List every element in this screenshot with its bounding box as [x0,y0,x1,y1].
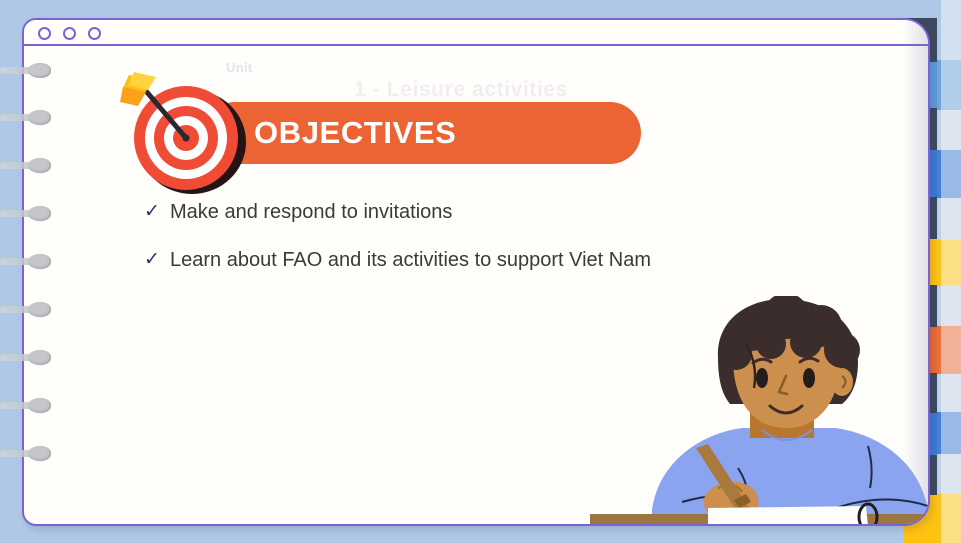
binder-ring-icon [0,158,56,173]
watermark-subtitle: 1 - Leisure activities [354,78,568,102]
spiral-binder-rings [0,0,70,543]
binder-ring-icon [0,446,56,461]
objectives-banner: OBJECTIVES [204,102,641,164]
binder-ring-icon [0,206,56,221]
objective-text-2: Learn about FAO and its activities to su… [170,246,651,274]
slide-card: Unit 1 - Leisure activities OBJECTIVES [22,18,930,526]
window-titlebar [24,20,928,46]
binder-ring-icon [0,254,56,269]
check-icon: ✓ [144,198,170,226]
strip-fade-overlay [941,0,961,543]
slide-root: Unit 1 - Leisure activities OBJECTIVES [0,0,961,543]
boy-writing-at-desk-illustration [590,296,930,526]
objective-text-1: Make and respond to invitations [170,198,452,226]
page-title: OBJECTIVES [254,102,456,164]
window-dot-3-icon[interactable] [88,27,101,40]
list-item: ✓ Learn about FAO and its activities to … [144,246,844,274]
binder-ring-icon [0,350,56,365]
binder-ring-icon [0,63,56,78]
check-icon: ✓ [144,246,170,274]
target-dartboard-icon [120,72,252,196]
binder-ring-icon [0,110,56,125]
list-item: ✓ Make and respond to invitations [144,198,844,226]
binder-ring-icon [0,398,56,413]
objectives-list: ✓ Make and respond to invitations ✓ Lear… [144,198,844,294]
binder-ring-icon [0,302,56,317]
